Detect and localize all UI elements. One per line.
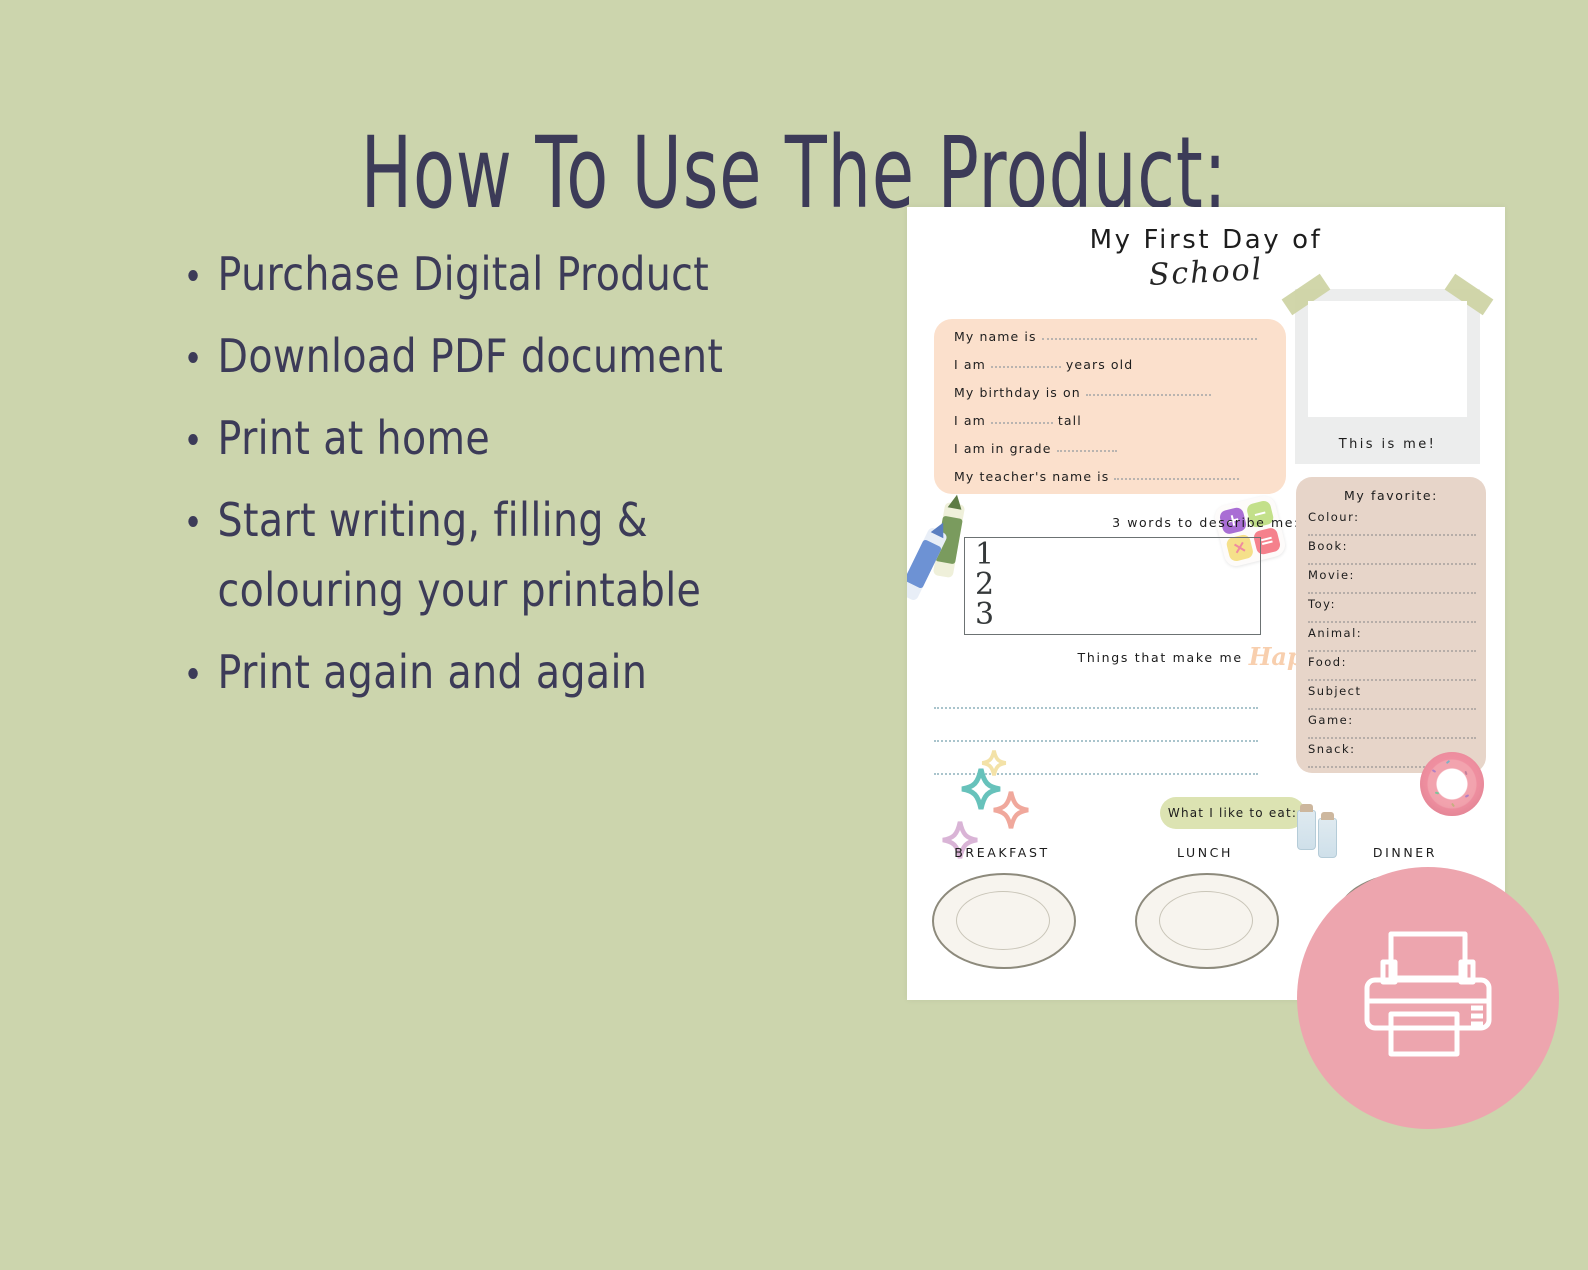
write-line bbox=[1308, 737, 1476, 739]
field-grade: I am in grade bbox=[954, 441, 1274, 467]
field-height: I amtall bbox=[954, 413, 1274, 439]
favorites-title: My favorite: bbox=[1296, 488, 1486, 503]
write-line bbox=[1308, 592, 1476, 594]
about-me-panel: My name is I amyears old My birthday is … bbox=[934, 319, 1286, 494]
write-line bbox=[1114, 469, 1239, 480]
write-line bbox=[1308, 621, 1476, 623]
donut-icon bbox=[1420, 752, 1484, 816]
three-words-box: 1 2 3 bbox=[964, 537, 1261, 635]
write-line bbox=[1308, 534, 1476, 536]
favorite-row-book: Book: bbox=[1308, 539, 1478, 569]
meal-label-breakfast: BREAKFAST bbox=[932, 845, 1072, 860]
field-name: My name is bbox=[954, 329, 1274, 355]
write-line bbox=[1057, 441, 1117, 452]
list-item: Purchase Digital Product bbox=[178, 240, 806, 310]
printer-badge bbox=[1297, 867, 1559, 1129]
what-i-eat-label: What I like to eat: bbox=[1160, 797, 1305, 829]
favorite-label: Colour: bbox=[1308, 510, 1360, 524]
list-item: Download PDF document bbox=[178, 322, 806, 392]
meal-label-lunch: LUNCH bbox=[1135, 845, 1275, 860]
favorite-label: Movie: bbox=[1308, 568, 1355, 582]
list-item: Print again and again bbox=[178, 638, 806, 708]
field-label: I am bbox=[954, 357, 986, 372]
favorite-row-movie: Movie: bbox=[1308, 568, 1478, 598]
field-label: My birthday is on bbox=[954, 385, 1081, 400]
list-item: Start writing, filling & colouring your … bbox=[178, 486, 806, 626]
field-birthday: My birthday is on bbox=[954, 385, 1274, 411]
favorite-row-subject: Subject bbox=[1308, 684, 1478, 714]
field-label: I am in grade bbox=[954, 441, 1052, 456]
write-line bbox=[991, 413, 1053, 424]
salt-shaker-icon bbox=[1297, 810, 1316, 850]
favorite-row-game: Game: bbox=[1308, 713, 1478, 743]
favorite-label: Snack: bbox=[1308, 742, 1356, 756]
favorite-label: Game: bbox=[1308, 713, 1354, 727]
field-suffix: years old bbox=[1066, 357, 1133, 372]
three-words-number: 3 bbox=[975, 600, 994, 630]
favorite-label: Animal: bbox=[1308, 626, 1362, 640]
write-line bbox=[1308, 679, 1476, 681]
step-label: Download PDF document bbox=[218, 329, 724, 383]
list-item: Print at home bbox=[178, 404, 806, 474]
sparkle-salmon-icon bbox=[992, 790, 1030, 830]
write-line bbox=[934, 707, 1258, 709]
favorite-row-toy: Toy: bbox=[1308, 597, 1478, 627]
favorite-row-animal: Animal: bbox=[1308, 626, 1478, 656]
favorite-label: Toy: bbox=[1308, 597, 1336, 611]
three-words-number: 2 bbox=[975, 570, 994, 600]
field-label: I am bbox=[954, 413, 986, 428]
field-label: My name is bbox=[954, 329, 1037, 344]
plate-breakfast-icon bbox=[932, 873, 1076, 969]
step-label: Purchase Digital Product bbox=[218, 247, 710, 301]
field-label: My teacher's name is bbox=[954, 469, 1109, 484]
photo-frame: This is me! bbox=[1295, 289, 1480, 464]
favorites-panel: My favorite: Colour: Book: Movie: Toy: A… bbox=[1296, 477, 1486, 773]
write-line bbox=[1042, 329, 1257, 340]
three-words-number: 1 bbox=[975, 540, 994, 570]
plate-lunch-icon bbox=[1135, 873, 1279, 969]
write-line bbox=[1308, 708, 1476, 710]
printer-icon bbox=[1353, 928, 1503, 1068]
happy-prefix: Things that make me bbox=[1078, 650, 1243, 665]
write-line bbox=[1308, 650, 1476, 652]
sparkle-yellow-icon bbox=[981, 749, 1007, 777]
meal-label-dinner: DINNER bbox=[1335, 845, 1475, 860]
write-line bbox=[991, 357, 1061, 368]
field-age: I amyears old bbox=[954, 357, 1274, 383]
write-line bbox=[1308, 563, 1476, 565]
step-label: Print at home bbox=[218, 411, 491, 465]
steps-list: Purchase Digital Product Download PDF do… bbox=[178, 240, 908, 719]
favorite-row-food: Food: bbox=[1308, 655, 1478, 685]
favorite-label: Food: bbox=[1308, 655, 1347, 669]
field-suffix: tall bbox=[1058, 413, 1082, 428]
step-label: Print again and again bbox=[218, 645, 648, 699]
write-line bbox=[934, 740, 1258, 742]
favorite-label: Book: bbox=[1308, 539, 1348, 553]
favorite-row-colour: Colour: bbox=[1308, 510, 1478, 540]
photo-area bbox=[1308, 301, 1467, 417]
favorite-label: Subject bbox=[1308, 684, 1362, 698]
step-label: Start writing, filling & colouring your … bbox=[218, 493, 702, 617]
photo-caption: This is me! bbox=[1295, 437, 1480, 452]
write-line bbox=[1086, 385, 1211, 396]
field-teacher: My teacher's name is bbox=[954, 469, 1274, 495]
